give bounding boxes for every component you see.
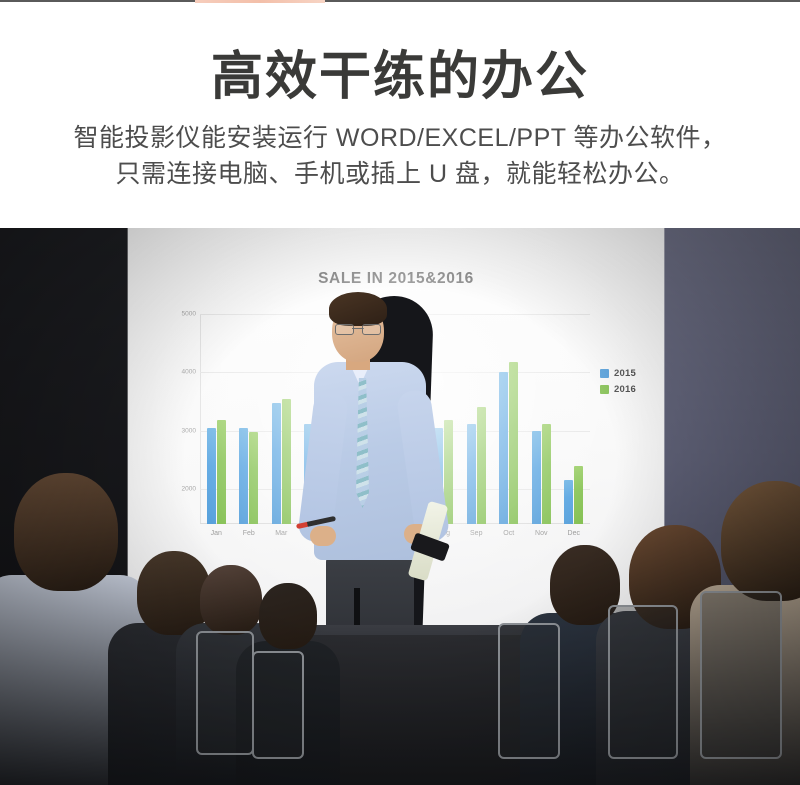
audience-member-head (259, 583, 317, 649)
audience-group (0, 455, 800, 785)
header-section: 高效干练的办公 智能投影仪能安装运行 WORD/EXCEL/PPT 等办公软件，… (0, 10, 800, 193)
audience-member-head (200, 565, 262, 635)
eyeglasses-icon (335, 324, 381, 333)
legend-item-2016: 2016 (600, 384, 636, 395)
subtitle-line-2: 只需连接电脑、手机或插上 U 盘，就能轻松办公。 (0, 156, 800, 192)
legend-label-2015: 2015 (614, 368, 636, 379)
y-axis-tick-label: 4000 (156, 369, 196, 376)
audience-chair (252, 651, 304, 759)
audience-member-head (14, 473, 118, 591)
audience-chair (608, 605, 678, 759)
y-axis-tick-label: 5000 (156, 311, 196, 318)
page-subtitle: 智能投影仪能安装运行 WORD/EXCEL/PPT 等办公软件， 只需连接电脑、… (0, 120, 800, 193)
audience-chair (700, 591, 782, 759)
audience-chair (196, 631, 254, 755)
conference-room-photo: SALE IN 2015&2016 5000400030002000JanFeb… (0, 228, 800, 785)
square-swatch-icon (600, 385, 609, 394)
square-swatch-icon (600, 369, 609, 378)
chart-title: SALE IN 2015&2016 (128, 270, 664, 288)
top-divider-rule (0, 0, 800, 2)
subtitle-line-1: 智能投影仪能安装运行 WORD/EXCEL/PPT 等办公软件， (0, 120, 800, 156)
audience-chair (498, 623, 560, 759)
top-divider-accent (195, 0, 325, 3)
y-axis-tick-label: 3000 (156, 427, 196, 434)
audience-member-head (721, 481, 800, 601)
legend-item-2015: 2015 (600, 368, 636, 379)
legend-label-2016: 2016 (614, 384, 636, 395)
promo-page: 高效干练的办公 智能投影仪能安装运行 WORD/EXCEL/PPT 等办公软件，… (0, 0, 800, 785)
page-headline: 高效干练的办公 (0, 48, 800, 106)
chart-legend: 2015 2016 (600, 368, 636, 400)
presenter-hair (329, 292, 387, 326)
